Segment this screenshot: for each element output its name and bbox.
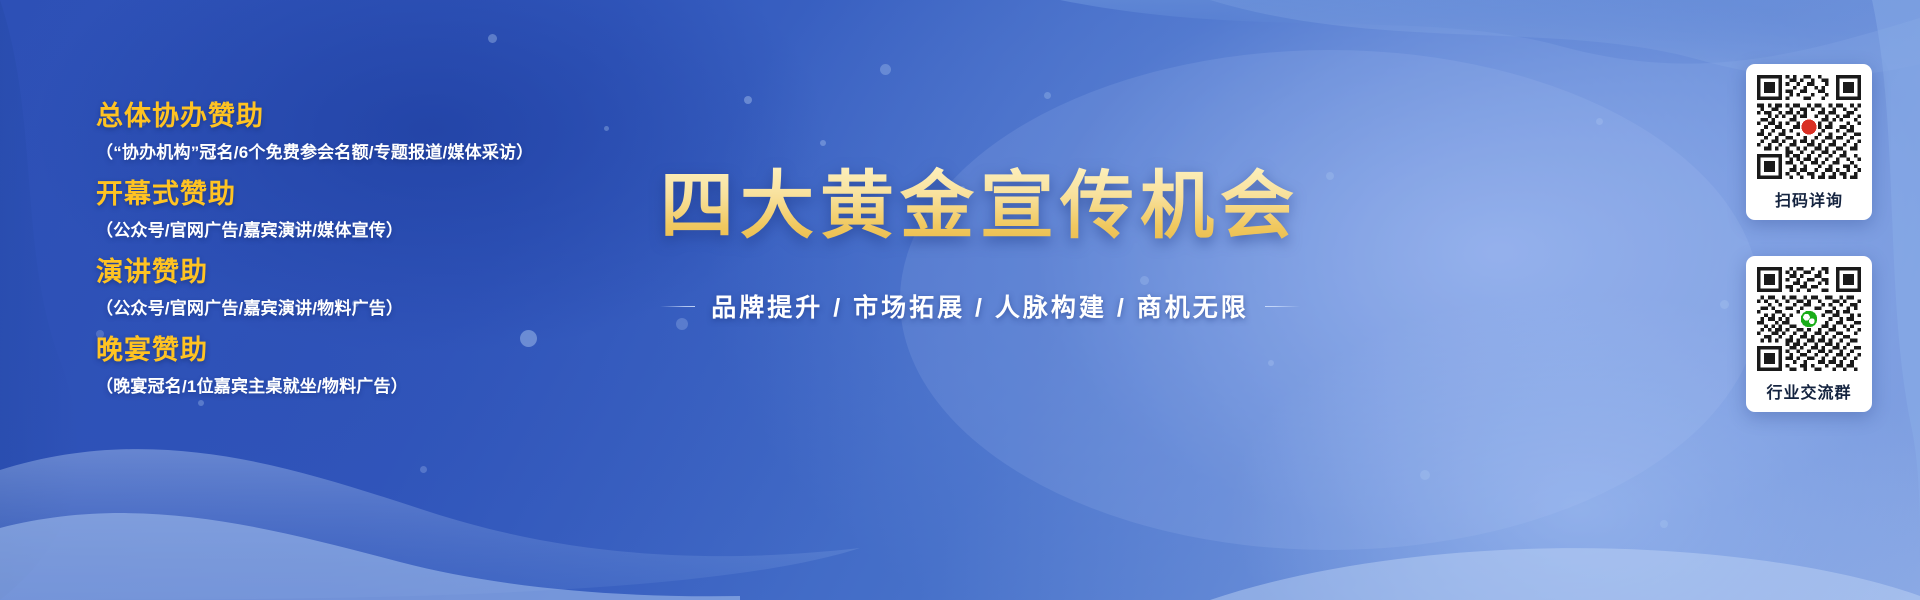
wechat-logo-icon	[1801, 311, 1817, 327]
qr-code-icon	[1757, 267, 1861, 371]
promo-banner: 总体协办赞助 （“协办机构”冠名/6个免费参会名额/专题报道/媒体采访） 开幕式…	[0, 0, 1920, 600]
headline-block: 四大黄金宣传机会 品牌提升 / 市场拓展 / 人脉构建 / 商机无限	[660, 160, 1300, 324]
qr-card-consult[interactable]: 扫码详询	[1746, 64, 1872, 220]
sponsor-item: 演讲赞助 （公众号/官网广告/嘉宾演讲/物料广告）	[96, 252, 736, 326]
sponsor-benefits: （“协办机构”冠名/6个免费参会名额/专题报道/媒体采访）	[96, 136, 736, 170]
sponsor-benefits: （晚宴冠名/1位嘉宾主桌就坐/物料广告）	[96, 370, 736, 404]
sponsor-title: 演讲赞助	[96, 252, 736, 292]
sponsor-title: 晚宴赞助	[96, 330, 736, 370]
qr-label-consult: 扫码详询	[1775, 187, 1843, 211]
sponsor-item: 晚宴赞助 （晚宴冠名/1位嘉宾主桌就坐/物料广告）	[96, 330, 736, 404]
divider-right	[1265, 306, 1300, 307]
subtitle-row: 品牌提升 / 市场拓展 / 人脉构建 / 商机无限	[660, 288, 1300, 324]
qr-code-icon	[1757, 75, 1861, 179]
page-title: 四大黄金宣传机会	[660, 160, 1300, 252]
divider-left	[660, 306, 695, 307]
sponsor-item: 总体协办赞助 （“协办机构”冠名/6个免费参会名额/专题报道/媒体采访）	[96, 96, 736, 170]
sponsor-title: 开幕式赞助	[96, 174, 736, 214]
sponsor-benefits: （公众号/官网广告/嘉宾演讲/媒体宣传）	[96, 214, 736, 248]
sponsor-item: 开幕式赞助 （公众号/官网广告/嘉宾演讲/媒体宣传）	[96, 174, 736, 248]
sponsor-package-list: 总体协办赞助 （“协办机构”冠名/6个免费参会名额/专题报道/媒体采访） 开幕式…	[96, 96, 736, 408]
sponsor-title: 总体协办赞助	[96, 96, 736, 136]
sponsor-benefits: （公众号/官网广告/嘉宾演讲/物料广告）	[96, 292, 736, 326]
qr-card-group[interactable]: 行业交流群	[1746, 256, 1872, 412]
qr-label-group: 行业交流群	[1766, 379, 1851, 403]
subtitle: 品牌提升 / 市场拓展 / 人脉构建 / 商机无限	[711, 288, 1249, 324]
